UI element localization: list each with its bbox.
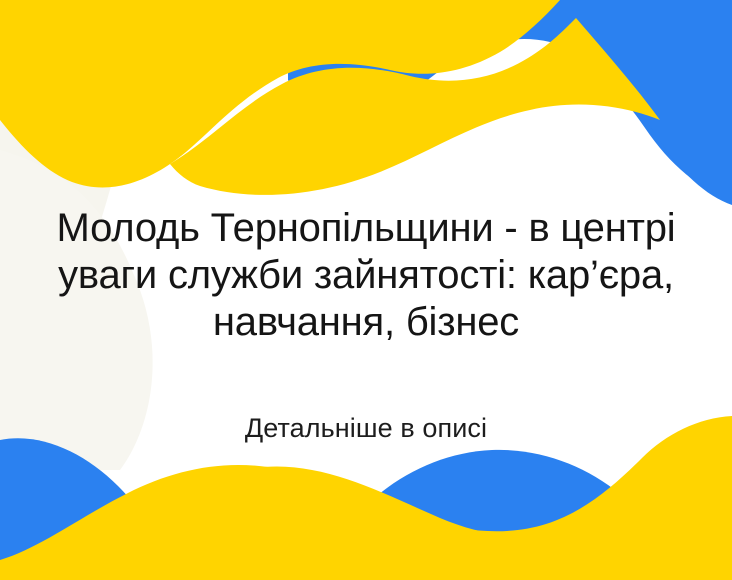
subtitle-text: Детальніше в описі bbox=[0, 412, 732, 444]
page-title: Молодь Тернопільщини - в центрі уваги сл… bbox=[0, 205, 732, 346]
poster-text-content: Молодь Тернопільщини - в центрі уваги сл… bbox=[0, 0, 732, 580]
poster-canvas: Молодь Тернопільщини - в центрі уваги сл… bbox=[0, 0, 732, 580]
